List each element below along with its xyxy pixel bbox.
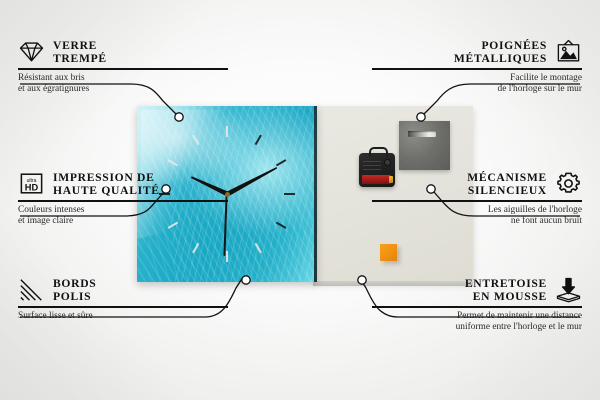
title-line-1: IMPRESSION DE [53, 171, 160, 184]
desc-line-1: Résistant aux bris [18, 73, 228, 85]
callout-title: IMPRESSION DE HAUTE QUALITÉ [53, 171, 160, 197]
tick-6 [226, 251, 228, 262]
desc-line-2: ne font aucun bruit [372, 216, 582, 228]
title-line-1: ENTRETOISE [465, 277, 547, 290]
ultra-hd-icon: ultra HD [18, 170, 45, 197]
callout-header: BORDS POLIS [18, 276, 228, 303]
title-line-2: EN MOUSSE [465, 290, 547, 303]
mechanism-label [363, 158, 381, 170]
desc-line-1: Les aiguilles de l'horloge [372, 205, 582, 217]
callout-title: BORDS POLIS [53, 277, 96, 303]
callout-header: POIGNÉES MÉTALLIQUES [372, 38, 582, 65]
callout-description: Les aiguilles de l'horloge ne font aucun… [372, 205, 582, 228]
tick-7 [192, 243, 199, 254]
callout-mecanisme-silencieux: MÉCANISME SILENCIEUX Les aiguilles de l'… [372, 170, 582, 228]
callout-rule [372, 200, 582, 202]
desc-line-2: et aux égratignures [18, 84, 228, 96]
title-line-2: MÉTALLIQUES [454, 52, 547, 65]
hd-label: HD [25, 182, 39, 192]
callout-rule [372, 68, 582, 70]
title-line-2: POLIS [53, 290, 96, 303]
tick-10 [168, 159, 179, 166]
callout-rule [18, 68, 228, 70]
callout-impression-hd: ultra HD IMPRESSION DE HAUTE QUALITÉ Cou… [18, 170, 228, 228]
tick-5 [255, 243, 262, 254]
callout-rule [372, 306, 582, 308]
callout-poignees-metalliques: POIGNÉES MÉTALLIQUES Facilite le montage… [372, 38, 582, 96]
callout-header: MÉCANISME SILENCIEUX [372, 170, 582, 197]
mechanism-dial [384, 159, 391, 166]
tick-11 [192, 135, 199, 146]
infographic-canvas: VERRE TREMPÉ Résistant aux bris et aux é… [0, 0, 600, 400]
desc-line-1: Permet de maintenir une distance [372, 311, 582, 323]
callout-description: Facilite le montage de l'horloge sur le … [372, 73, 582, 96]
foam-spacer [380, 244, 397, 261]
mechanism-hanging-loop [369, 147, 388, 157]
title-line-2: HAUTE QUALITÉ [53, 184, 160, 197]
tick-1 [255, 135, 262, 146]
callout-title: POIGNÉES MÉTALLIQUES [454, 39, 547, 65]
tick-12 [226, 126, 228, 137]
callout-header: ENTRETOISE EN MOUSSE [372, 276, 582, 303]
title-line-1: MÉCANISME [467, 171, 547, 184]
callout-title: MÉCANISME SILENCIEUX [467, 171, 547, 197]
callout-rule [18, 306, 228, 308]
desc-line-1: Facilite le montage [372, 73, 582, 85]
desc-line-2: de l'horloge sur le mur [372, 84, 582, 96]
callout-description: Permet de maintenir une distance uniform… [372, 311, 582, 334]
desc-line-1: Couleurs intenses [18, 205, 228, 217]
metal-hanger-plate [399, 121, 450, 170]
callout-description: Surface lisse et sûre [18, 311, 228, 323]
desc-line-2: uniforme entre l'horloge et le mur [372, 322, 582, 334]
title-line-1: VERRE [53, 39, 107, 52]
tick-4 [276, 222, 287, 229]
callout-header: VERRE TREMPÉ [18, 38, 228, 65]
callout-entretoise-en-mousse: ENTRETOISE EN MOUSSE Permet de maintenir… [372, 276, 582, 334]
desc-line-2: et image claire [18, 216, 228, 228]
gear-icon [555, 170, 582, 197]
title-line-1: BORDS [53, 277, 96, 290]
callout-verre-trempe: VERRE TREMPÉ Résistant aux bris et aux é… [18, 38, 228, 96]
picture-frame-hanger-icon [555, 38, 582, 65]
arrow-down-pad-icon [555, 276, 582, 303]
panel-edge [314, 106, 317, 282]
diamond-icon [18, 38, 45, 65]
callout-title: ENTRETOISE EN MOUSSE [465, 277, 547, 303]
callout-title: VERRE TREMPÉ [53, 39, 107, 65]
desc-line-1: Surface lisse et sûre [18, 311, 228, 323]
callout-description: Résistant aux bris et aux égratignures [18, 73, 228, 96]
tick-2 [276, 159, 287, 166]
title-line-1: POIGNÉES [454, 39, 547, 52]
polished-edge-lines-icon [18, 276, 45, 303]
callout-header: ultra HD IMPRESSION DE HAUTE QUALITÉ [18, 170, 228, 197]
tick-3 [284, 193, 295, 195]
title-line-2: SILENCIEUX [467, 184, 547, 197]
callout-bords-polis: BORDS POLIS Surface lisse et sûre [18, 276, 228, 322]
callout-rule [18, 200, 228, 202]
title-line-2: TREMPÉ [53, 52, 107, 65]
callout-description: Couleurs intenses et image claire [18, 205, 228, 228]
